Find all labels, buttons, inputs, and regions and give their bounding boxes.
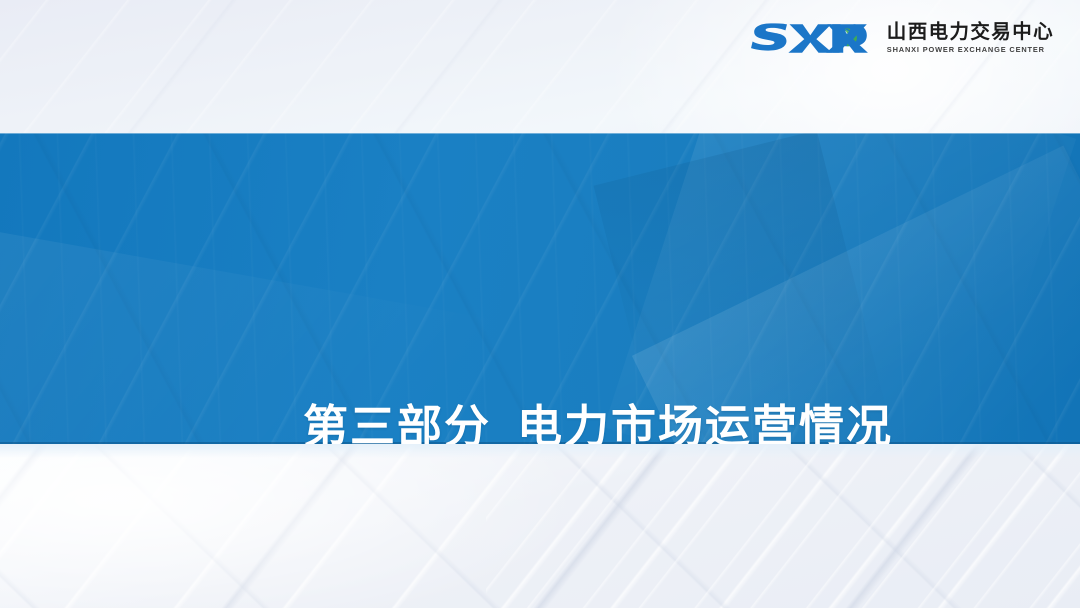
slide-title-section: 第三部分	[303, 401, 491, 444]
logo-name-english: SHANXI POWER EXCHANGE CENTER	[887, 46, 1054, 53]
footer-glow-overlay	[0, 444, 648, 608]
section-banner: 第三部分电力市场运营情况 一、市场注册情况 二、交易组织情况 三、电力市场建设情…	[0, 133, 1080, 444]
footer-texture-primary	[0, 444, 1080, 608]
logo-wordmark: 山西电力交易中心 SHANXI POWER EXCHANGE CENTER	[887, 23, 1054, 54]
footer-texture-cross	[0, 444, 1080, 608]
organization-logo: 山西电力交易中心 SHANXI POWER EXCHANGE CENTER	[750, 18, 1054, 58]
footer-texture-secondary	[0, 444, 1080, 608]
slide-footer-background	[0, 444, 1080, 608]
sxpx-logo-mark	[750, 21, 876, 55]
banner-content: 第三部分电力市场运营情况 一、市场注册情况 二、交易组织情况 三、电力市场建设情…	[0, 133, 1080, 444]
footer-texture-fine	[486, 444, 1080, 608]
slide-title: 第三部分电力市场运营情况	[0, 349, 1080, 444]
slide-title-text: 电力市场运营情况	[517, 401, 893, 444]
section-outline-list: 一、市场注册情况 二、交易组织情况 三、电力市场建设情况	[0, 443, 1080, 444]
outline-item-1[interactable]: 一、市场注册情况	[70, 443, 266, 444]
outline-item-2[interactable]: 二、交易组织情况	[396, 443, 592, 444]
presentation-slide: 山西电力交易中心 SHANXI POWER EXCHANGE CENTER 第三…	[0, 0, 1080, 608]
logo-name-chinese: 山西电力交易中心	[887, 23, 1054, 43]
footer-top-fade	[0, 444, 1080, 458]
outline-item-3[interactable]: 三、电力市场建设情况	[678, 443, 923, 444]
